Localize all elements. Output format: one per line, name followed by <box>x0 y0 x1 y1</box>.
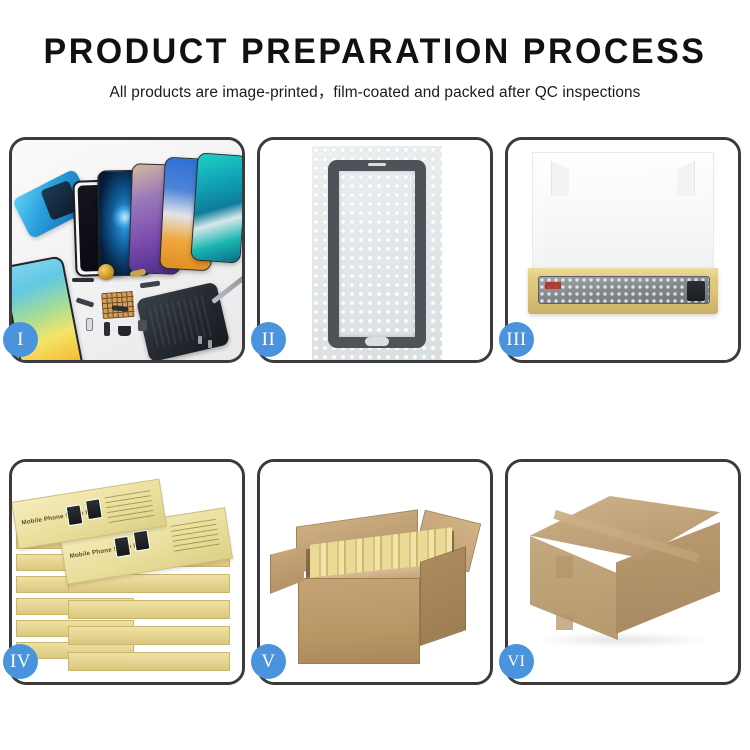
box-spec-lines-back <box>105 490 155 525</box>
screw-icon-2 <box>208 340 212 348</box>
carton-drop-shadow <box>536 632 708 648</box>
step-badge-1: I <box>3 322 38 357</box>
process-step-panel-6[interactable]: VI <box>505 459 741 685</box>
stacked-box-right-3 <box>68 600 230 619</box>
step-badge-5: V <box>251 644 286 679</box>
box-thumb-image-front-2 <box>133 530 151 552</box>
carton-side-face <box>420 546 466 646</box>
box-spec-lines-front <box>170 519 220 554</box>
foam-liner <box>544 196 702 272</box>
carton-tab-lower <box>556 614 573 630</box>
process-step-panel-4[interactable]: Mobile Phone Spare Parts Mobile Phone Sp… <box>9 459 245 685</box>
bubble-wrap-sheet <box>312 146 442 360</box>
page-header: PRODUCT PREPARATION PROCESS All products… <box>0 0 750 102</box>
carton-front-face <box>298 578 420 664</box>
step-4-image: Mobile Phone Spare Parts Mobile Phone Sp… <box>12 462 242 682</box>
retail-box-stack: Mobile Phone Spare Parts Mobile Phone Sp… <box>12 462 242 682</box>
antenna-cable-icon <box>140 281 161 289</box>
step-2-image <box>260 140 490 360</box>
phone-back-shell-icon <box>136 282 230 360</box>
connector-part-icon <box>104 322 110 336</box>
step-badge-6: VI <box>499 644 534 679</box>
speaker-part-icon <box>72 278 94 282</box>
carton-tab-upper <box>556 556 573 578</box>
process-step-panel-5[interactable]: V <box>257 459 493 685</box>
step-1-image <box>12 140 242 360</box>
box-thumb-image-back-2 <box>85 498 103 520</box>
step-3-image <box>508 140 738 360</box>
flex-cable-icon <box>76 297 95 307</box>
box-thumb-image-front-1 <box>113 536 131 558</box>
process-step-grid: I II III <box>9 137 743 685</box>
box-thumb-image-back-1 <box>66 504 84 526</box>
vibrator-motor-icon <box>138 320 147 331</box>
phone-teal-wave <box>190 152 242 263</box>
kraft-box-tray <box>528 268 718 314</box>
process-step-panel-3[interactable]: III <box>505 137 741 363</box>
process-step-panel-1[interactable]: I <box>9 137 245 363</box>
page-subtitle: All products are image-printed，film-coat… <box>0 80 750 102</box>
step-5-image <box>260 462 490 682</box>
step-badge-4: IV <box>3 644 38 679</box>
process-step-panel-2[interactable]: II <box>257 137 493 363</box>
step-badge-3: III <box>499 322 534 357</box>
copper-coil-icon <box>98 264 114 280</box>
wrapped-screen-in-box <box>538 276 710 304</box>
sim-tray-icon <box>86 318 93 331</box>
stacked-box-right-5 <box>68 652 230 671</box>
phone-screen-glass <box>328 160 426 348</box>
camera-module-icon <box>118 326 131 336</box>
step-6-image <box>508 462 738 682</box>
screw-icon-1 <box>198 336 202 344</box>
stacked-box-right-4 <box>68 626 230 645</box>
sealed-carton-left-face <box>530 536 618 640</box>
page-title: PRODUCT PREPARATION PROCESS <box>11 33 739 70</box>
step-badge-2: II <box>251 322 286 357</box>
